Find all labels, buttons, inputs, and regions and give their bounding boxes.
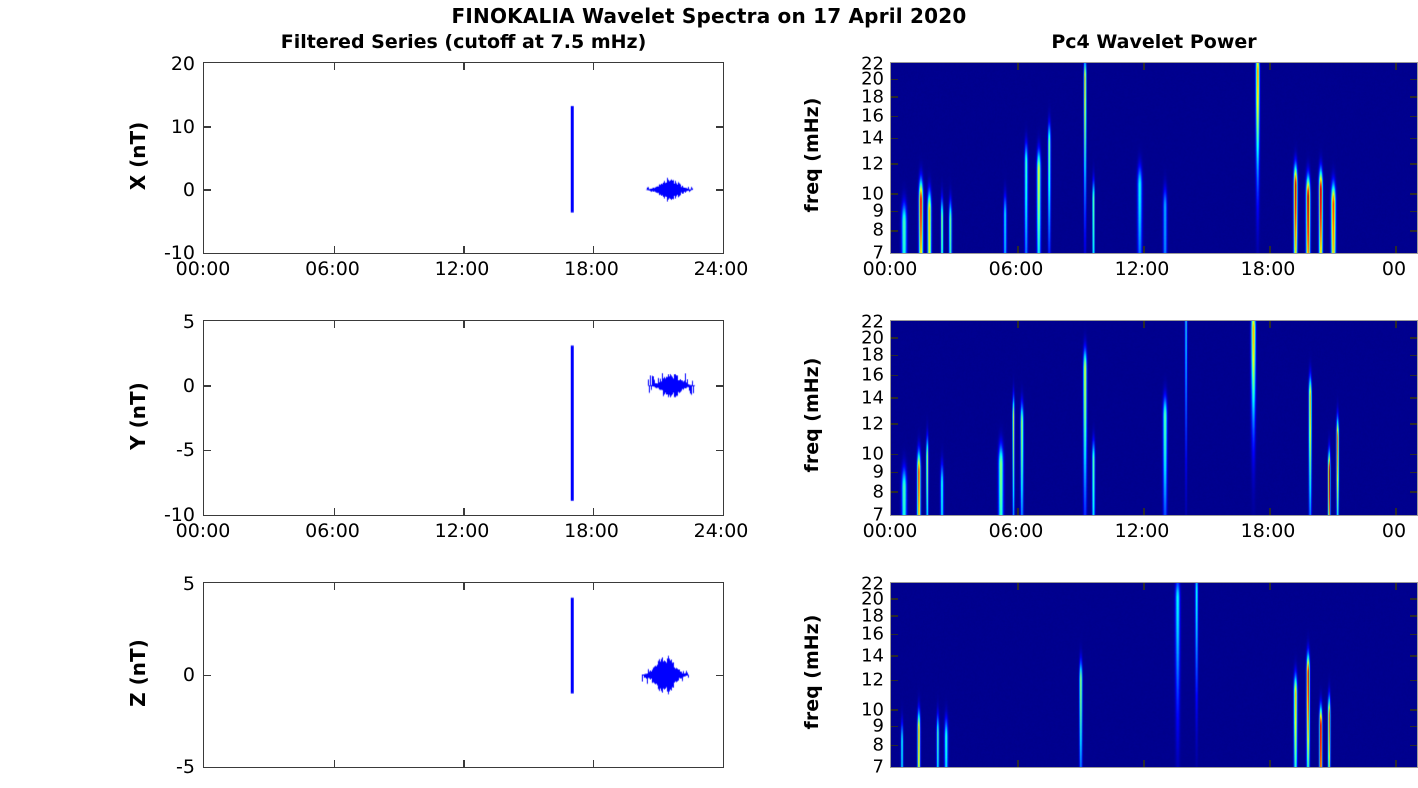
x-tickmark [463, 321, 465, 328]
y-tickmark [1410, 230, 1417, 232]
y-tickmark [204, 450, 211, 452]
x-tickmark [593, 321, 595, 328]
timeseries-panel-Y-filtered-series [203, 320, 724, 516]
spectrogram-panel-Y-wavelet-power [890, 320, 1418, 516]
y-tickmark [891, 96, 898, 98]
y-tickmark [204, 675, 211, 677]
y-tickmark [204, 189, 211, 191]
y-axis-label: Z (nT) [126, 583, 150, 763]
x-axis-tick-label: 12:00 [1115, 258, 1170, 280]
y-tickmark [1410, 472, 1417, 474]
y-tickmark [891, 138, 898, 140]
y-tickmark [1410, 634, 1417, 636]
x-tickmark [1143, 63, 1145, 70]
y-axis-tick-label: 16 [828, 624, 884, 645]
y-tickmark [716, 385, 723, 387]
y-tickmark [891, 193, 898, 195]
x-tickmark [1143, 508, 1145, 515]
x-tickmark [463, 760, 465, 767]
x-tickmark [1269, 508, 1271, 515]
y-tickmark [891, 211, 898, 213]
x-axis-tick-label: 18:00 [1241, 258, 1296, 280]
left-column-title: Filtered Series (cutoff at 7.5 mHz) [203, 31, 724, 53]
y-tickmark [891, 355, 898, 357]
y-tickmark [716, 189, 723, 191]
y-tickmark [891, 375, 898, 377]
y-tickmark [1410, 337, 1417, 339]
y-axis-label: freq (mHz) [801, 65, 823, 245]
y-tickmark [1410, 491, 1417, 493]
x-tickmark [1395, 760, 1397, 767]
y-tickmark [891, 230, 898, 232]
y-axis-label: X (nT) [126, 66, 150, 246]
x-axis-tick-label: 18:00 [564, 520, 619, 542]
y-tickmark [1410, 726, 1417, 728]
y-tickmark [891, 709, 898, 711]
timeseries-trace [204, 63, 723, 253]
y-tickmark [1410, 193, 1417, 195]
x-tickmark [334, 508, 336, 515]
y-tickmark [891, 454, 898, 456]
x-axis-tick-label: 00 [1382, 520, 1406, 542]
x-tickmark [1143, 760, 1145, 767]
y-axis-tick-label: 9 [828, 201, 884, 222]
x-axis-tick-label: 12:00 [435, 520, 490, 542]
y-axis-tick-label: 18 [828, 86, 884, 107]
x-tickmark [593, 508, 595, 515]
x-axis-tick-label: 06:00 [989, 258, 1044, 280]
x-tickmark [1143, 246, 1145, 253]
x-tickmark [1395, 63, 1397, 70]
y-tickmark [1410, 423, 1417, 425]
y-tickmark [1410, 116, 1417, 118]
right-column-title: Pc4 Wavelet Power [890, 31, 1418, 53]
x-tickmark [593, 63, 595, 70]
x-tickmark [1017, 246, 1019, 253]
y-axis-tick-label: 8 [828, 481, 884, 502]
y-tickmark [716, 126, 723, 128]
y-tickmark [1410, 680, 1417, 682]
y-axis-tick-label: 12 [828, 670, 884, 691]
y-tickmark [716, 450, 723, 452]
y-tickmark [891, 79, 898, 81]
x-axis-tick-label: 06:00 [989, 520, 1044, 542]
x-tickmark [1017, 321, 1019, 328]
y-tickmark [1410, 375, 1417, 377]
y-tickmark [891, 726, 898, 728]
x-tickmark [1269, 321, 1271, 328]
y-axis-tick-label: 12 [828, 413, 884, 434]
x-axis-tick-label: 06:00 [305, 258, 360, 280]
x-axis-tick-label: 18:00 [1241, 520, 1296, 542]
spectrogram-panel-Z-wavelet-power [890, 582, 1418, 768]
y-tickmark [1410, 79, 1417, 81]
y-axis-tick-label: 12 [828, 153, 884, 174]
y-tickmark [1410, 211, 1417, 213]
timeseries-trace [204, 583, 723, 767]
y-tickmark [1410, 745, 1417, 747]
x-tickmark [463, 63, 465, 70]
x-tickmark [334, 583, 336, 590]
y-axis-tick-label: 8 [828, 220, 884, 241]
x-axis-tick-label: 12:00 [435, 258, 490, 280]
x-tickmark [334, 246, 336, 253]
y-tickmark [891, 491, 898, 493]
y-tickmark [1410, 138, 1417, 140]
x-tickmark [1269, 63, 1271, 70]
figure-suptitle: FINOKALIA Wavelet Spectra on 17 April 20… [0, 4, 1418, 28]
y-axis-label: freq (mHz) [801, 582, 823, 762]
x-tickmark [334, 63, 336, 70]
y-tickmark [891, 397, 898, 399]
wavelet-power-heatmap [891, 321, 1417, 515]
x-tickmark [1017, 63, 1019, 70]
y-tickmark [1410, 598, 1417, 600]
y-tickmark [1410, 355, 1417, 357]
x-axis-tick-label: 00:00 [863, 258, 918, 280]
wavelet-power-heatmap [891, 583, 1417, 767]
x-tickmark [1269, 760, 1271, 767]
y-tickmark [891, 634, 898, 636]
x-tickmark [463, 508, 465, 515]
y-axis-tick-label: 14 [828, 387, 884, 408]
y-axis-label: freq (mHz) [801, 325, 823, 505]
y-axis-tick-label: 9 [828, 462, 884, 483]
x-tickmark [593, 583, 595, 590]
y-tickmark [716, 675, 723, 677]
x-tickmark [463, 583, 465, 590]
x-axis-tick-label: 00:00 [176, 520, 231, 542]
y-tickmark [1410, 96, 1417, 98]
x-tickmark [1269, 583, 1271, 590]
timeseries-panel-Z-filtered-series [203, 582, 724, 768]
x-axis-tick-label: 24:00 [694, 258, 749, 280]
y-tickmark [1410, 397, 1417, 399]
y-tickmark [891, 337, 898, 339]
timeseries-panel-X-filtered-series [203, 62, 724, 254]
x-tickmark [1143, 583, 1145, 590]
y-axis-tick-label: 8 [828, 735, 884, 756]
x-tickmark [1017, 508, 1019, 515]
x-tickmark [1395, 246, 1397, 253]
y-tickmark [891, 655, 898, 657]
x-axis-tick-label: 12:00 [1115, 520, 1170, 542]
x-tickmark [334, 760, 336, 767]
y-tickmark [1410, 615, 1417, 617]
y-axis-tick-label: 14 [828, 645, 884, 666]
x-axis-tick-label: 00 [1382, 258, 1406, 280]
y-tickmark [204, 126, 211, 128]
timeseries-trace [204, 321, 723, 515]
y-tickmark [891, 680, 898, 682]
y-tickmark [891, 116, 898, 118]
x-axis-tick-label: 24:00 [694, 520, 749, 542]
y-axis-tick-label: 7 [828, 756, 884, 777]
y-tickmark [891, 745, 898, 747]
x-tickmark [1143, 321, 1145, 328]
y-tickmark [891, 472, 898, 474]
y-axis-tick-label: 16 [828, 365, 884, 386]
x-axis-tick-label: 06:00 [305, 520, 360, 542]
y-tickmark [891, 615, 898, 617]
wavelet-power-heatmap [891, 63, 1417, 253]
x-tickmark [1269, 246, 1271, 253]
y-tickmark [891, 598, 898, 600]
x-tickmark [1017, 583, 1019, 590]
x-axis-tick-label: 00:00 [176, 258, 231, 280]
x-axis-tick-label: 18:00 [564, 258, 619, 280]
y-tickmark [1410, 163, 1417, 165]
y-axis-tick-label: 18 [828, 345, 884, 366]
y-axis-tick-label: 14 [828, 128, 884, 149]
x-tickmark [1395, 583, 1397, 590]
y-tickmark [204, 385, 211, 387]
y-tickmark [1410, 709, 1417, 711]
y-tickmark [1410, 655, 1417, 657]
y-axis-tick-label: 16 [828, 106, 884, 127]
x-tickmark [593, 760, 595, 767]
spectrogram-panel-X-wavelet-power [890, 62, 1418, 254]
y-tickmark [891, 163, 898, 165]
y-tickmark [1410, 454, 1417, 456]
x-tickmark [334, 321, 336, 328]
x-tickmark [1017, 760, 1019, 767]
x-tickmark [1395, 508, 1397, 515]
x-tickmark [1395, 321, 1397, 328]
y-tickmark [891, 423, 898, 425]
x-tickmark [593, 246, 595, 253]
x-tickmark [463, 246, 465, 253]
y-axis-label: Y (nT) [126, 326, 150, 506]
x-axis-tick-label: 00:00 [863, 520, 918, 542]
